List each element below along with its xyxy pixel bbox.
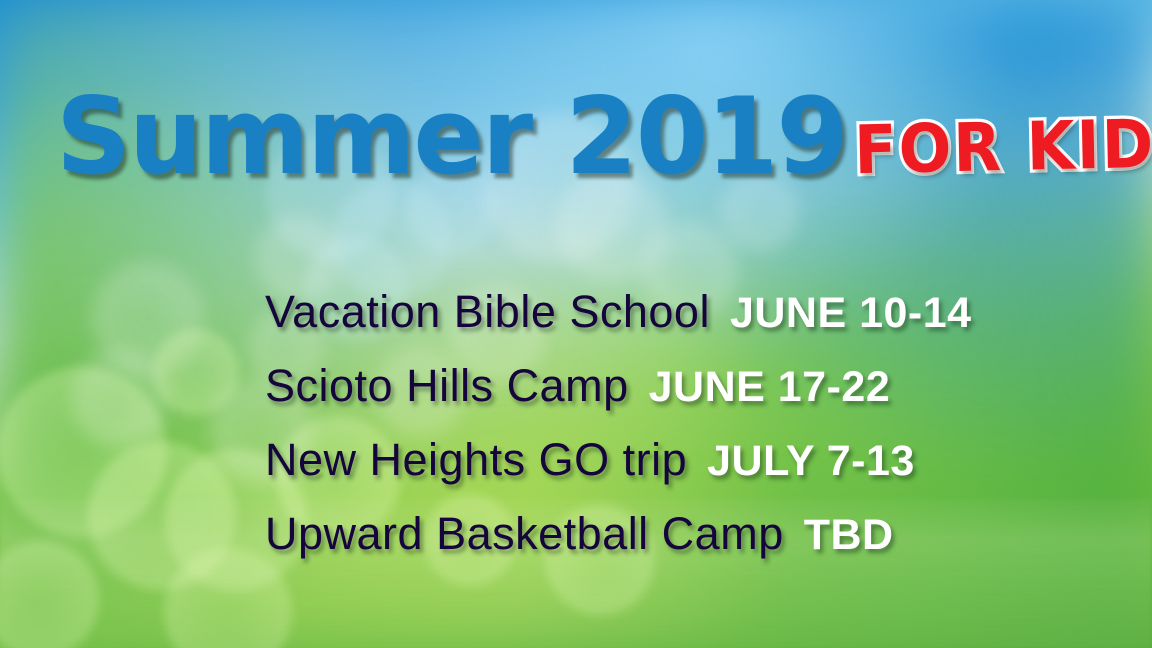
schedule-row: Vacation Bible SchoolJUNE 10-14 <box>265 286 972 354</box>
page-title: Summer 2019 <box>56 84 847 190</box>
event-name: Scioto Hills Camp <box>265 360 629 412</box>
event-date: JUNE 17-22 <box>649 363 891 412</box>
schedule-list: Vacation Bible SchoolJUNE 10-14Scioto Hi… <box>265 286 972 576</box>
bokeh-circle <box>92 262 204 374</box>
event-date: JUNE 10-14 <box>730 289 972 338</box>
schedule-row: Scioto Hills CampJUNE 17-22 <box>265 360 972 428</box>
bokeh-circle <box>153 329 239 415</box>
title-kicker: FOR KIDS <box>853 110 1152 184</box>
event-name: Upward Basketball Camp <box>265 508 784 560</box>
event-name: Vacation Bible School <box>265 286 710 338</box>
schedule-row: Upward Basketball CampTBD <box>265 508 972 576</box>
event-date: JULY 7-13 <box>707 437 915 486</box>
poster-canvas: Summer 2019 FOR KIDS Vacation Bible Scho… <box>0 0 1152 648</box>
bokeh-circle <box>332 180 452 300</box>
bokeh-circle <box>72 350 168 446</box>
headline: Summer 2019 FOR KIDS <box>56 84 1152 190</box>
event-name: New Heights GO trip <box>265 434 687 486</box>
event-date: TBD <box>804 511 894 560</box>
schedule-row: New Heights GO tripJULY 7-13 <box>265 434 972 502</box>
